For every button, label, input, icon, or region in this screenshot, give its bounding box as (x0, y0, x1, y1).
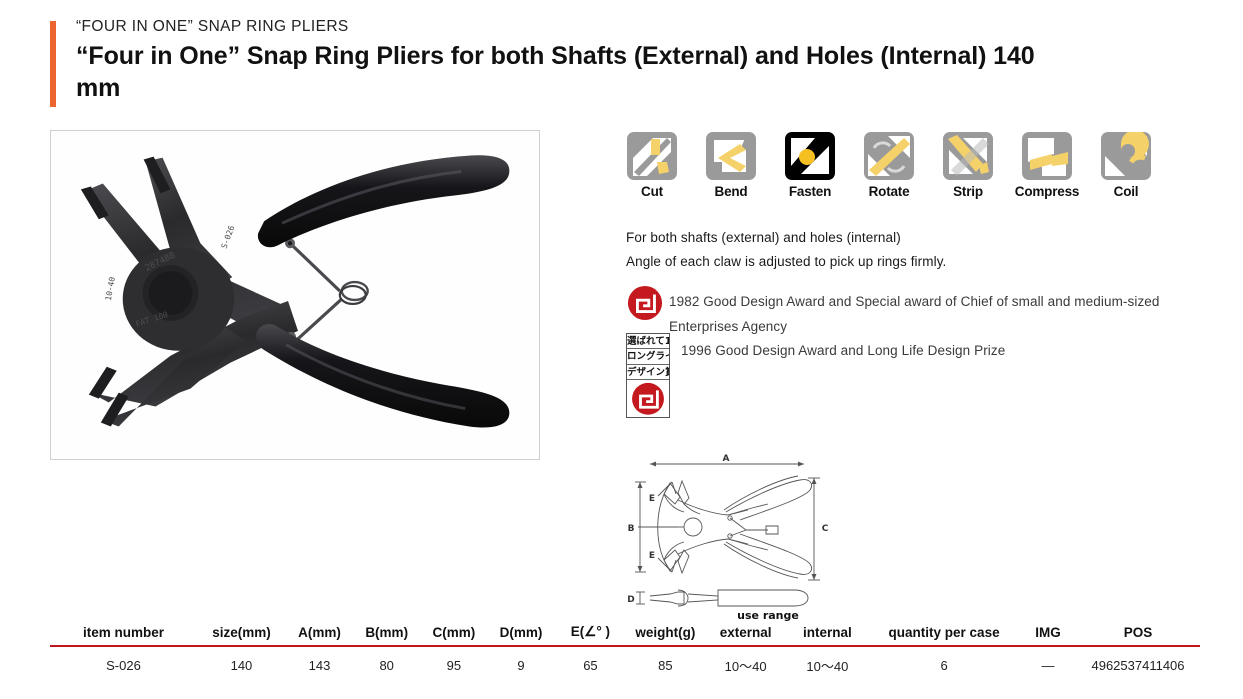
cell-b: 80 (353, 646, 420, 679)
orange-accent-bar (50, 21, 56, 107)
product-photo[interactable]: 2874BB FAT 100 S-026 10-40 (50, 130, 540, 460)
function-item-rotate[interactable]: Rotate (863, 132, 915, 199)
description-line-1: For both shafts (external) and holes (in… (626, 226, 1206, 250)
col-e-angle: E(∠° ) (555, 622, 627, 646)
col-b: B(mm) (353, 622, 420, 646)
award-1-text: 1982 Good Design Award and Special award… (669, 289, 1189, 339)
product-photo-illustration: 2874BB FAT 100 S-026 10-40 (51, 131, 539, 459)
cell-img: — (1020, 646, 1076, 679)
long-life-design-badge: 選ばれて10年 ロングライフ デザイン賞 (626, 333, 670, 418)
cell-c: 95 (420, 646, 487, 679)
badge-line-1: 選ばれて10年 (627, 334, 669, 349)
badge-line-3: デザイン賞 (627, 365, 669, 380)
spec-table-header-row: item number size(mm) A(mm) B(mm) C(mm) D… (50, 622, 1200, 646)
badge-line-2: ロングライフ (627, 349, 669, 364)
dimension-diagram: A B C D E E use range (618, 452, 928, 622)
col-d: D(mm) (487, 622, 554, 646)
good-design-gmark-icon-2 (628, 381, 668, 417)
col-size: size(mm) (197, 622, 286, 646)
col-a: A(mm) (286, 622, 353, 646)
function-item-fasten[interactable]: Fasten (784, 132, 836, 199)
bend-icon[interactable] (706, 132, 756, 180)
page-title: “Four in One” Snap Ring Pliers for both … (76, 40, 1066, 104)
cell-pos: 4962537411406 (1076, 646, 1200, 679)
col-pos: POS (1076, 622, 1200, 646)
use-range-caption: use range (737, 609, 799, 622)
dim-label-d: D (627, 595, 634, 605)
award-2-text: 1996 Good Design Award and Long Life Des… (681, 341, 1201, 361)
strip-icon[interactable] (943, 132, 993, 180)
description-line-2: Angle of each claw is adjusted to pick u… (626, 250, 1206, 274)
col-img: IMG (1020, 622, 1076, 646)
col-item-number: item number (50, 622, 197, 646)
col-internal: internal (787, 622, 869, 646)
dim-label-e-top: E (649, 494, 655, 504)
spec-table: item number size(mm) A(mm) B(mm) C(mm) D… (50, 622, 1200, 679)
function-label-coil: Coil (1114, 184, 1139, 199)
cell-weight: 85 (626, 646, 704, 679)
cell-item-number: S-026 (50, 646, 197, 679)
function-item-compress[interactable]: Compress (1021, 132, 1073, 199)
function-item-cut[interactable]: Cut (626, 132, 678, 199)
function-label-rotate: Rotate (869, 184, 910, 199)
dim-label-c: C (822, 524, 829, 534)
col-external: external (705, 622, 787, 646)
function-label-cut: Cut (641, 184, 663, 199)
function-item-bend[interactable]: Bend (705, 132, 757, 199)
cell-external: 10～40 (705, 646, 787, 679)
table-row[interactable]: S-026 140 143 80 95 9 65 85 10～40 10～40 … (50, 646, 1200, 679)
dim-label-a: A (723, 454, 730, 464)
dim-label-b: B (628, 524, 635, 534)
coil-icon[interactable] (1101, 132, 1151, 180)
technical-drawing: A B C D E E use range (618, 452, 928, 622)
function-item-strip[interactable]: Strip (942, 132, 994, 199)
cut-icon[interactable] (627, 132, 677, 180)
function-item-coil[interactable]: Coil (1100, 132, 1152, 199)
rotate-icon[interactable] (864, 132, 914, 180)
cell-quantity-per-case: 6 (868, 646, 1020, 679)
cell-a: 143 (286, 646, 353, 679)
cell-d: 9 (487, 646, 554, 679)
function-icon-row: Cut Bend Faste (626, 132, 1152, 199)
page-kicker: “FOUR IN ONE” SNAP RING PLIERS (76, 18, 349, 36)
cell-e-angle: 65 (555, 646, 627, 679)
col-quantity-per-case: quantity per case (868, 622, 1020, 646)
function-label-strip: Strip (953, 184, 983, 199)
product-spec-page: “FOUR IN ONE” SNAP RING PLIERS “Four in … (0, 0, 1243, 699)
function-label-fasten: Fasten (789, 184, 831, 199)
compress-icon[interactable] (1022, 132, 1072, 180)
function-label-compress: Compress (1015, 184, 1079, 199)
good-design-gmark-icon (626, 285, 664, 321)
cell-internal: 10～40 (787, 646, 869, 679)
col-weight: weight(g) (626, 622, 704, 646)
dim-label-e-bottom: E (649, 551, 655, 561)
col-c: C(mm) (420, 622, 487, 646)
description-block: For both shafts (external) and holes (in… (626, 226, 1206, 274)
function-label-bend: Bend (715, 184, 748, 199)
cell-size: 140 (197, 646, 286, 679)
fasten-icon[interactable] (785, 132, 835, 180)
